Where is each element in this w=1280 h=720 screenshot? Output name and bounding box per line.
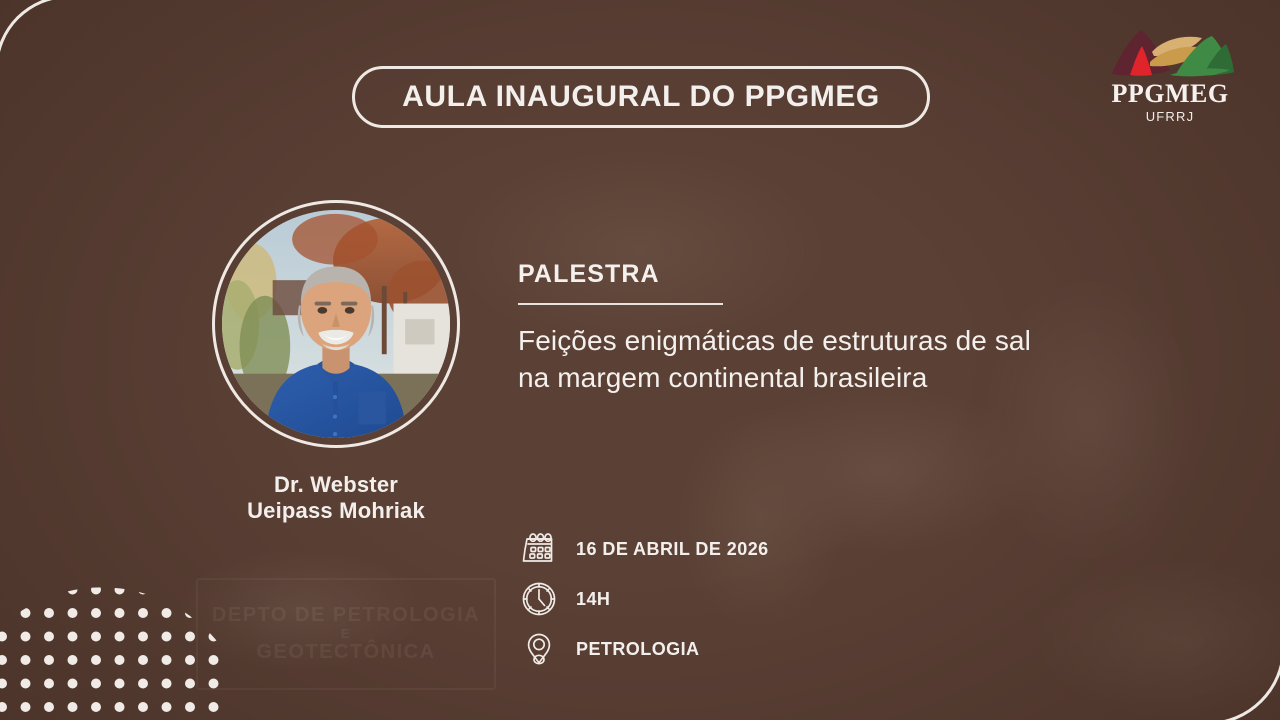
corner-frame-top-left — [0, 0, 233, 227]
speaker-name: Dr. Webster Ueipass Mohriak — [200, 472, 472, 523]
event-location-label: PETROLOGIA — [576, 639, 700, 660]
dot-pattern-decoration — [0, 560, 228, 720]
poster-title-pill: AULA INAUGURAL DO PPGMEG — [352, 66, 930, 128]
clock-icon — [518, 578, 560, 620]
page-title: AULA INAUGURAL DO PPGMEG — [402, 80, 880, 114]
speaker-name-line-1: Dr. Webster — [274, 472, 398, 497]
event-date-label: 16 DE ABRIL DE 2026 — [576, 539, 769, 560]
speaker-portrait-photo — [222, 210, 450, 438]
event-details-list: 16 DE ABRIL DE 2026 — [518, 524, 769, 674]
speaker-name-line-2: Ueipass Mohriak — [247, 498, 425, 523]
logo-wordmark: PPGMEG — [1111, 81, 1228, 107]
event-detail-time: 14H — [518, 574, 769, 624]
speaker-block: Dr. Webster Ueipass Mohriak — [200, 200, 472, 523]
event-detail-date: 16 DE ABRIL DE 2026 — [518, 524, 769, 574]
watermark-line-1: DEPTO DE PETROLOGIA — [212, 605, 480, 626]
corner-frame-bottom-right — [1038, 485, 1280, 720]
talk-title: Feições enigmáticas de estruturas de sal… — [518, 323, 1118, 397]
watermark-line-2: E — [341, 627, 351, 641]
event-detail-location: PETROLOGIA — [518, 624, 769, 674]
talk-kicker: PALESTRA — [518, 262, 1118, 287]
talk-divider — [518, 303, 723, 305]
ppgmeg-logo: PPGMEG UFRRJ — [1094, 26, 1246, 130]
background-watermark-sign: DEPTO DE PETROLOGIA E GEOTECTÔNICA — [196, 578, 496, 690]
location-pin-icon — [518, 628, 560, 670]
logo-institution: UFRRJ — [1146, 110, 1195, 123]
avatar — [212, 200, 460, 448]
event-time-label: 14H — [576, 589, 610, 610]
ppgmeg-mountains-icon — [1100, 26, 1240, 78]
avatar-photo-clip — [222, 210, 450, 438]
watermark-line-3: GEOTECTÔNICA — [256, 642, 435, 663]
talk-title-line-2: na margem continental brasileira — [518, 360, 1118, 397]
talk-block: PALESTRA Feições enigmáticas de estrutur… — [518, 262, 1118, 397]
poster-canvas: DEPTO DE PETROLOGIA E GEOTECTÔNICA AULA … — [0, 0, 1280, 720]
calendar-icon — [518, 528, 560, 570]
talk-title-line-1: Feições enigmáticas de estruturas de sal — [518, 323, 1118, 360]
